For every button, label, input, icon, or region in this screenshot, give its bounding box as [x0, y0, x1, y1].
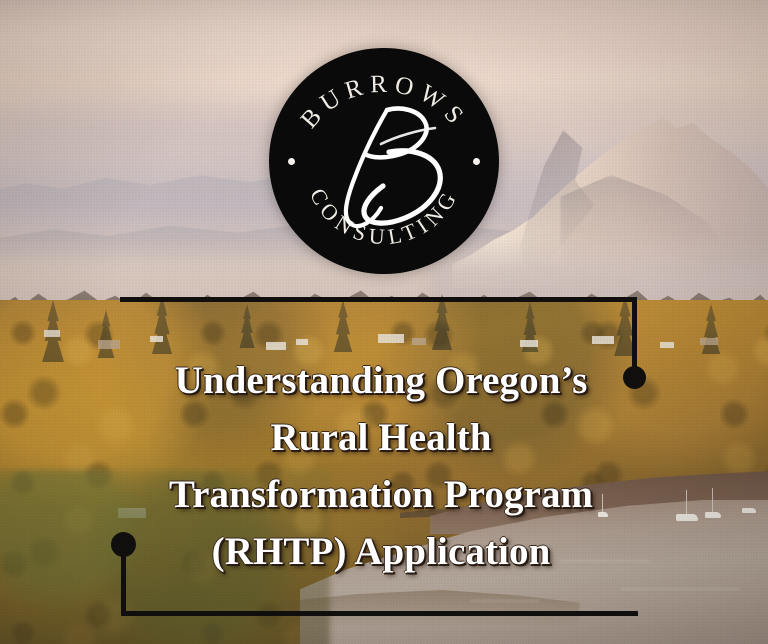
logo-accent-dot	[473, 158, 480, 165]
social-graphic-canvas: BURROWS CONSULTING Understanding Oregon’…	[0, 0, 768, 644]
house	[98, 340, 120, 349]
house	[520, 340, 538, 347]
house	[44, 330, 60, 337]
house	[378, 334, 404, 343]
house	[412, 338, 426, 345]
sailboat	[598, 512, 608, 517]
bottom-bracket-dot	[111, 532, 136, 557]
sailboat	[676, 514, 698, 521]
sailboat-mast	[602, 494, 603, 512]
logo-top-arc-text: BURROWS	[296, 71, 473, 134]
foreground-trees	[0, 470, 330, 644]
top-bracket-dot	[623, 366, 646, 389]
house	[266, 342, 286, 350]
logo-accent-dot	[288, 158, 295, 165]
svg-text:CONSULTING: CONSULTING	[305, 184, 463, 250]
house	[660, 342, 674, 348]
house	[296, 339, 308, 345]
house	[592, 336, 614, 344]
sailboat	[705, 512, 721, 518]
svg-text:BURROWS: BURROWS	[296, 71, 473, 134]
house	[700, 338, 718, 345]
sailboat	[742, 508, 756, 513]
logo-monogram-b	[346, 109, 440, 227]
bottom-bracket-horizontal-rule	[121, 611, 638, 616]
sailboat-mast	[686, 490, 687, 514]
burrows-consulting-logo[interactable]: BURROWS CONSULTING	[269, 48, 499, 274]
house	[150, 336, 163, 342]
water-ripple	[560, 560, 650, 562]
top-bracket-horizontal-rule	[120, 297, 637, 302]
logo-bottom-arc-text: CONSULTING	[305, 184, 463, 250]
water-ripple	[620, 588, 740, 590]
water-ripple	[470, 600, 540, 602]
sailboat-mast	[712, 488, 713, 512]
